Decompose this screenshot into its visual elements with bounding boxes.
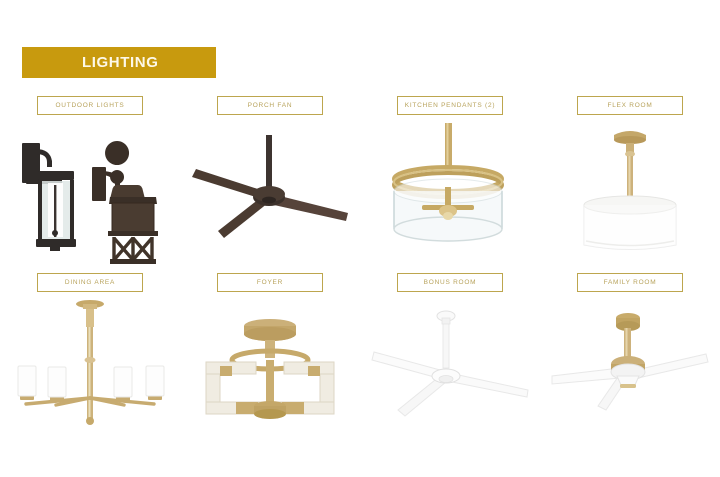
label-box: DINING AREA: [37, 273, 143, 292]
product-cell-bonus-room[interactable]: BONUS ROOM: [360, 273, 540, 450]
porch-fan-image: [180, 121, 360, 271]
product-row: OUTDOOR LIGHTS: [0, 96, 720, 273]
product-cell-flex-room[interactable]: FLEX ROOM: [540, 96, 720, 273]
label-box: FOYER: [217, 273, 323, 292]
product-cell-family-room[interactable]: FAMILY ROOM: [540, 273, 720, 450]
product-cell-dining-area[interactable]: DINING AREA: [0, 273, 180, 450]
product-label: PORCH FAN: [248, 102, 293, 109]
label-box: FLEX ROOM: [577, 96, 683, 115]
kitchen-pendants-image: [360, 121, 540, 271]
page-title: LIGHTING: [22, 54, 158, 71]
product-label: FLEX ROOM: [607, 102, 652, 109]
product-label: FAMILY ROOM: [604, 279, 657, 286]
flex-room-image: [540, 121, 720, 271]
header-banner: LIGHTING: [22, 47, 216, 78]
dining-area-image: [0, 298, 180, 448]
product-label: KITCHEN PENDANTS (2): [405, 102, 495, 109]
product-label: BONUS ROOM: [424, 279, 477, 286]
label-box: PORCH FAN: [217, 96, 323, 115]
product-label: DINING AREA: [65, 279, 115, 286]
family-room-image: [540, 298, 720, 448]
bonus-room-image: [360, 298, 540, 448]
product-grid: OUTDOOR LIGHTS: [0, 96, 720, 450]
product-cell-porch-fan[interactable]: PORCH FAN: [180, 96, 360, 273]
label-box: FAMILY ROOM: [577, 273, 683, 292]
foyer-image: [180, 298, 360, 448]
product-cell-outdoor-lights[interactable]: OUTDOOR LIGHTS: [0, 96, 180, 273]
label-box: KITCHEN PENDANTS (2): [397, 96, 503, 115]
label-box: BONUS ROOM: [397, 273, 503, 292]
product-cell-foyer[interactable]: FOYER: [180, 273, 360, 450]
product-cell-kitchen-pendants[interactable]: KITCHEN PENDANTS (2): [360, 96, 540, 273]
product-label: FOYER: [257, 279, 283, 286]
label-box: OUTDOOR LIGHTS: [37, 96, 143, 115]
outdoor-lights-image: [0, 121, 180, 271]
product-label: OUTDOOR LIGHTS: [55, 102, 124, 109]
product-row: DINING AREA: [0, 273, 720, 450]
